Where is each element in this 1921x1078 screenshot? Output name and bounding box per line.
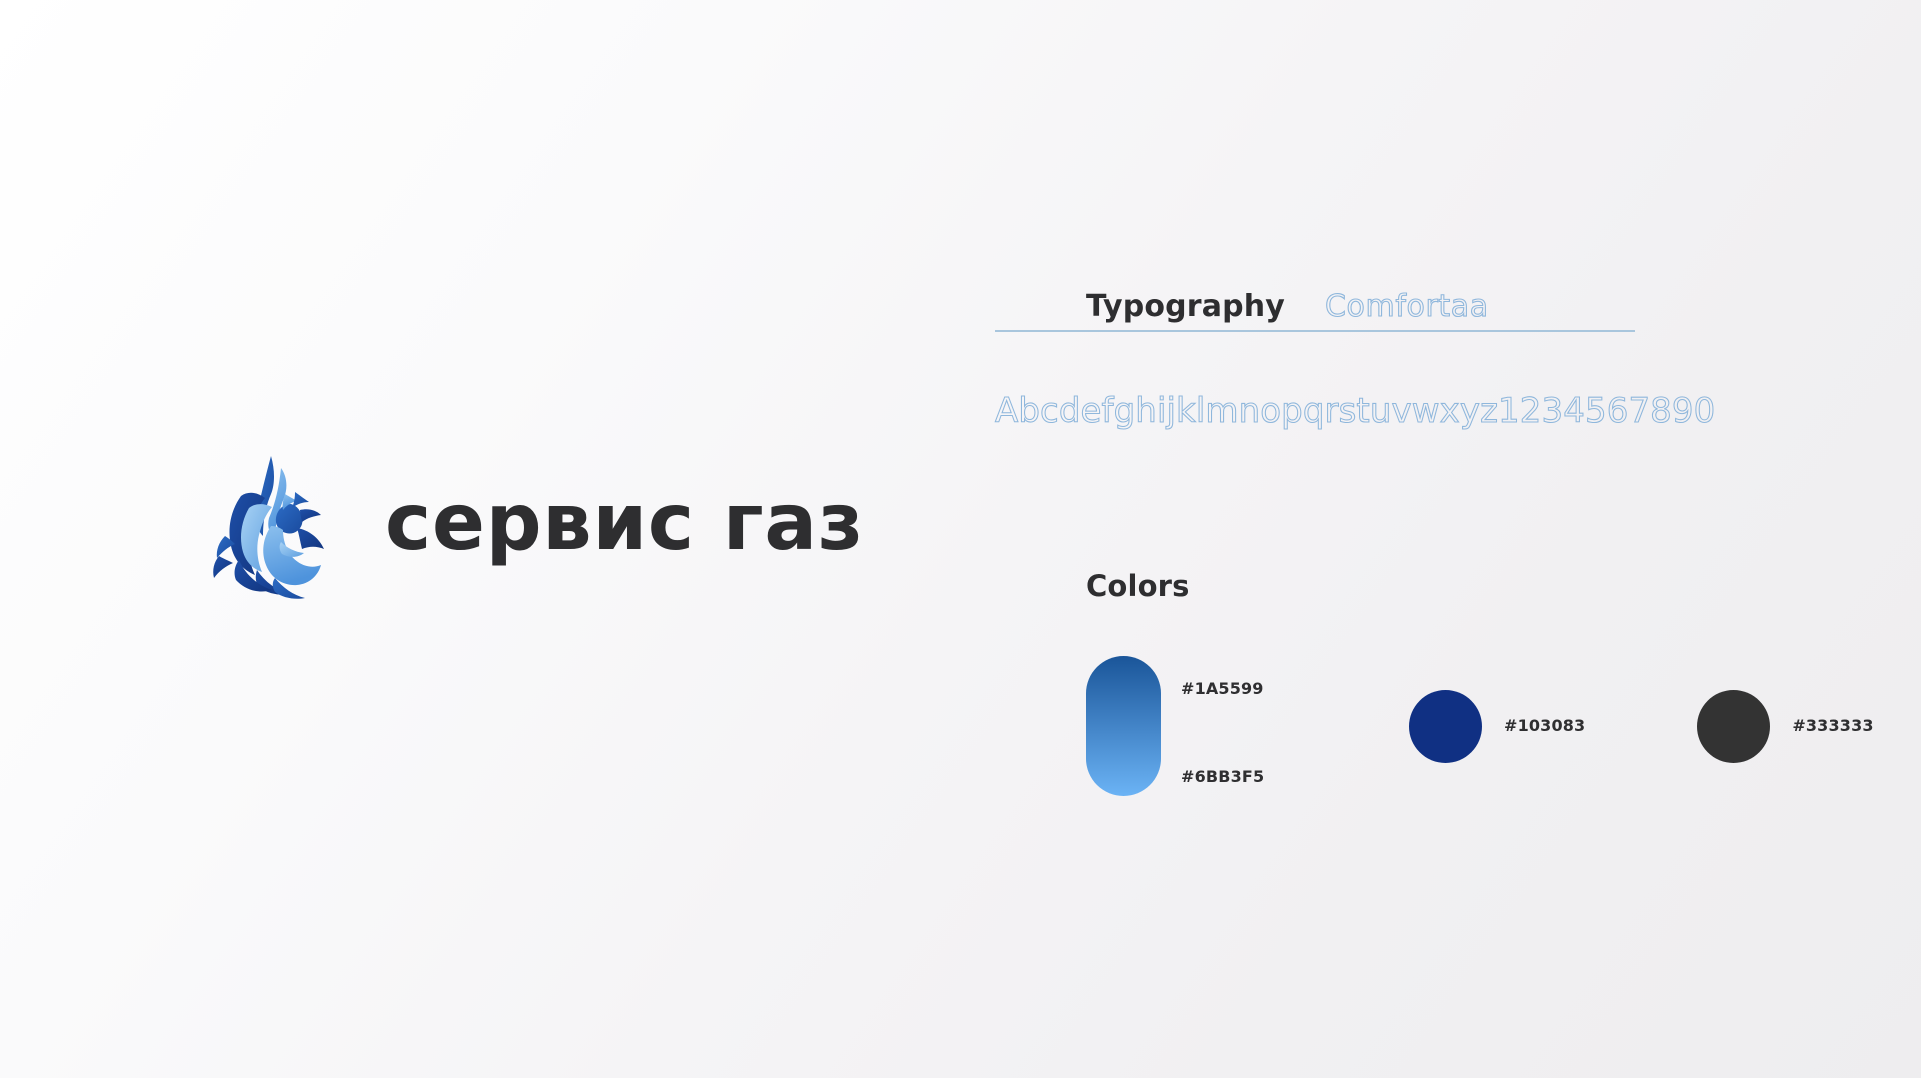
- hex-label-charcoal: #333333: [1792, 718, 1873, 734]
- swatch-primary-gradient: #1A5599 #6BB3F5: [1086, 656, 1301, 796]
- typography-specimen: Abcdefghijklmnopqrstuvwxyz1234567890: [995, 390, 1715, 433]
- hex-label-navy: #103083: [1504, 718, 1585, 734]
- typography-heading: Typography: [1086, 286, 1285, 328]
- color-swatch-row: #1A5599 #6BB3F5 #103083 #333333: [1086, 656, 1874, 796]
- swatch-charcoal: #333333: [1697, 690, 1873, 763]
- hex-label-gradient-top: #1A5599: [1181, 681, 1264, 697]
- colors-heading: Colors: [1086, 568, 1190, 606]
- typography-divider-rule: [995, 330, 1635, 332]
- navy-circle-shape: [1409, 690, 1482, 763]
- brand-lockup: сервис газ: [205, 452, 864, 602]
- charcoal-circle-shape: [1697, 690, 1770, 763]
- phoenix-firebird-mark-icon: [205, 452, 327, 602]
- brand-style-guide-canvas: сервис газ Typography Comfortaa Abcdefgh…: [0, 0, 1921, 1078]
- colors-section: Colors #1A5599 #6BB3F5 #103083 #333333: [1086, 568, 1190, 606]
- typography-section: Typography Comfortaa Abcdefghijklmnopqrs…: [995, 286, 1635, 336]
- gradient-pill-shape: [1086, 656, 1161, 796]
- gradient-pill-labels: #1A5599 #6BB3F5: [1181, 656, 1301, 796]
- typography-font-name: Comfortaa: [1325, 286, 1489, 328]
- hex-label-gradient-bottom: #6BB3F5: [1181, 769, 1264, 785]
- swatch-navy: #103083: [1409, 690, 1585, 763]
- brand-wordmark: сервис газ: [385, 484, 864, 570]
- typography-header: Typography Comfortaa: [995, 286, 1635, 336]
